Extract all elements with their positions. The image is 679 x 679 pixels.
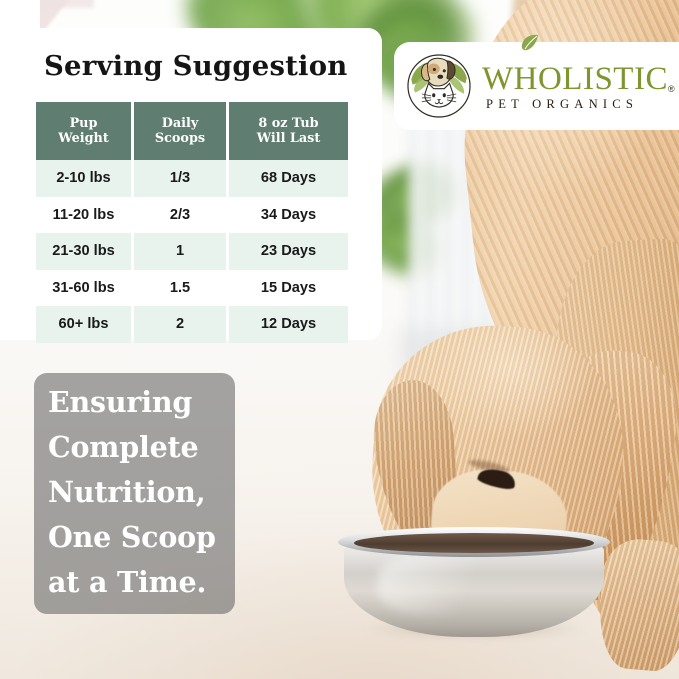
- column-header-line2: Will Last: [257, 131, 321, 147]
- column-header-line2: Scoops: [155, 131, 205, 147]
- serving-suggestion-table: Pup Weight Daily Scoops 8 oz Tub Will La…: [36, 102, 348, 343]
- cell-daily-scoops: 2/3: [134, 197, 226, 234]
- bowl-interior: [354, 533, 594, 553]
- cell-daily-scoops: 2: [134, 306, 226, 343]
- column-header-line1: 8 oz Tub: [258, 116, 318, 132]
- table-row: 2-10 lbs 1/3 68 Days: [36, 160, 348, 197]
- cell-tub-duration: 23 Days: [229, 233, 348, 270]
- cell-pup-weight: 60+ lbs: [36, 306, 131, 343]
- brand-name: WHOLISTIC: [482, 62, 668, 96]
- cell-pup-weight: 21-30 lbs: [36, 233, 131, 270]
- cell-daily-scoops: 1.5: [134, 270, 226, 307]
- registered-trademark: ®: [668, 84, 675, 96]
- cell-pup-weight: 11-20 lbs: [36, 197, 131, 234]
- stainless-steel-bowl: [338, 527, 610, 642]
- cell-pup-weight: 2-10 lbs: [36, 160, 131, 197]
- column-header-line1: Daily: [162, 116, 199, 132]
- cell-daily-scoops: 1: [134, 233, 226, 270]
- table-header-row: Pup Weight Daily Scoops 8 oz Tub Will La…: [36, 102, 348, 160]
- tagline-line: at a Time.: [48, 560, 235, 605]
- cell-pup-weight: 31-60 lbs: [36, 270, 131, 307]
- tagline-line: Complete: [48, 425, 235, 470]
- bowl-highlight: [378, 553, 508, 615]
- brand-wordmark-group: WHOLISTIC ® PET ORGANICS: [482, 60, 675, 112]
- tagline-box: Ensuring Complete Nutrition, One Scoop a…: [34, 373, 235, 614]
- tagline-line: Ensuring: [48, 380, 235, 425]
- table-row: 21-30 lbs 1 23 Days: [36, 233, 348, 270]
- cell-tub-duration: 34 Days: [229, 197, 348, 234]
- column-header-line2: Weight: [58, 131, 109, 147]
- brand-wordmark-row: WHOLISTIC ®: [482, 62, 675, 96]
- table-row: 60+ lbs 2 12 Days: [36, 306, 348, 343]
- tagline-line: One Scoop: [48, 515, 235, 560]
- brand-tagline: PET ORGANICS: [482, 97, 675, 112]
- tagline-line: Nutrition,: [48, 470, 235, 515]
- column-header-daily-scoops: Daily Scoops: [134, 102, 226, 160]
- cell-tub-duration: 15 Days: [229, 270, 348, 307]
- cell-tub-duration: 12 Days: [229, 306, 348, 343]
- brand-logo-badge: WHOLISTIC ® PET ORGANICS: [394, 42, 679, 130]
- column-header-line1: Pup: [70, 116, 98, 132]
- product-infographic: Serving Suggestion Pup Weight Daily Scoo…: [0, 0, 679, 679]
- page-title: Serving Suggestion: [44, 50, 364, 82]
- cell-tub-duration: 68 Days: [229, 160, 348, 197]
- leaf-accent-icon: [518, 34, 540, 52]
- column-header-tub-duration: 8 oz Tub Will Last: [229, 102, 348, 160]
- table-row: 31-60 lbs 1.5 15 Days: [36, 270, 348, 307]
- table-row: 11-20 lbs 2/3 34 Days: [36, 197, 348, 234]
- cell-daily-scoops: 1/3: [134, 160, 226, 197]
- dog-and-cat-in-leaves-icon: [406, 53, 472, 119]
- column-header-pup-weight: Pup Weight: [36, 102, 131, 160]
